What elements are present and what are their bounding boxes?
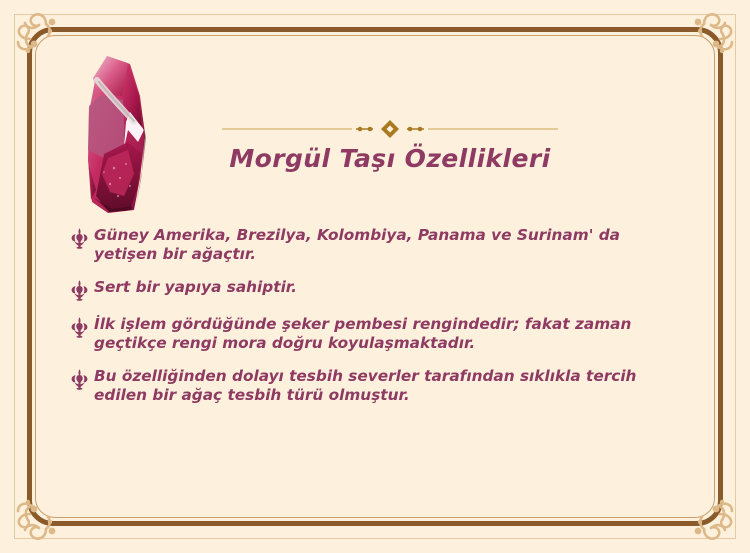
list-item: İlk işlem gördüğünde şeker pembesi rengi…: [70, 315, 682, 353]
list-item: Bu özelliğinden dolayı tesbih severler t…: [70, 367, 682, 405]
diamond-divider-ornament: [190, 118, 590, 140]
fleur-de-lis-icon: [70, 316, 89, 338]
corner-ornament-bottom-left: [6, 465, 88, 547]
card-header: Morgül Taşı Özellikleri: [190, 118, 590, 173]
fleur-de-lis-icon: [70, 279, 89, 301]
list-item: Sert bir yapıya sahiptir.: [70, 278, 682, 301]
info-card: Morgül Taşı Özellikleri: [0, 0, 750, 553]
corner-ornament-bottom-right: [662, 465, 744, 547]
list-item-text: Sert bir yapıya sahiptir.: [94, 278, 297, 297]
morgul-stone-photo: [68, 50, 180, 222]
list-item: Güney Amerika, Brezilya, Kolombiya, Pana…: [70, 226, 682, 264]
corner-ornament-top-right: [662, 6, 744, 88]
page-title: Morgül Taşı Özellikleri: [190, 140, 590, 173]
list-item-text: Güney Amerika, Brezilya, Kolombiya, Pana…: [94, 226, 682, 264]
fleur-de-lis-icon: [70, 368, 89, 390]
fleur-de-lis-icon: [70, 227, 89, 249]
list-item-text: İlk işlem gördüğünde şeker pembesi rengi…: [94, 315, 682, 353]
list-item-text: Bu özelliğinden dolayı tesbih severler t…: [94, 367, 682, 405]
features-list: Güney Amerika, Brezilya, Kolombiya, Pana…: [70, 226, 682, 419]
